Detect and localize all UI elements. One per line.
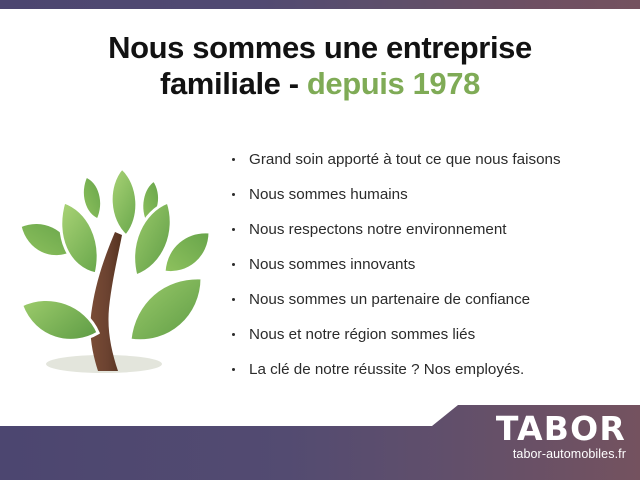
leaf-center-top: [111, 168, 137, 236]
list-item: Nous sommes humains: [228, 185, 630, 205]
bullet-dot-icon: [232, 298, 235, 301]
bullet-dot-icon: [232, 228, 235, 231]
list-item: La clé de notre réussite ? Nos employés.: [228, 360, 630, 380]
list-item-label: Nous sommes humains: [249, 186, 408, 203]
brand-url-text: tabor-automobiles.fr: [426, 447, 626, 462]
slide-root: Nous sommes une entreprise familiale - d…: [0, 0, 640, 480]
list-item: Nous respectons notre environnement: [228, 220, 630, 240]
list-item-label: Grand soin apporté à tout ce que nous fa…: [249, 151, 561, 168]
list-item: Nous et notre région sommes liés: [228, 325, 630, 345]
headline-line-2-plain: familiale -: [160, 66, 307, 101]
list-item-label: Nous sommes innovants: [249, 256, 415, 273]
tree-illustration: [12, 140, 222, 390]
bullet-dot-icon: [232, 158, 235, 161]
bullet-dot-icon: [232, 263, 235, 266]
value-list: Grand soin apporté à tout ce que nous fa…: [228, 150, 630, 395]
bullet-dot-icon: [232, 333, 235, 336]
top-accent-bar: [0, 0, 640, 9]
brand-logo: TABOR tabor-automobiles.fr: [426, 412, 626, 462]
list-item: Nous sommes innovants: [228, 255, 630, 275]
bullet-dot-icon: [232, 368, 235, 371]
page-title: Nous sommes une entreprise familiale - d…: [0, 30, 640, 102]
list-item: Grand soin apporté à tout ce que nous fa…: [228, 150, 630, 170]
leaf-small-top-left: [82, 176, 101, 220]
list-item-label: Nous et notre région sommes liés: [249, 326, 475, 343]
list-item-label: Nous respectons notre environnement: [249, 221, 507, 238]
leaf-lower-left: [21, 292, 99, 347]
leaf-far-right: [164, 232, 210, 273]
bullet-dot-icon: [232, 193, 235, 196]
list-item-label: La clé de notre réussite ? Nos employés.: [249, 361, 524, 378]
list-item: Nous sommes un partenaire de confiance: [228, 290, 630, 310]
brand-name-text: TABOR: [426, 412, 626, 446]
headline-line-2-accent: depuis 1978: [307, 66, 480, 101]
leaf-lower-right: [130, 278, 202, 341]
headline-line-1: Nous sommes une entreprise: [108, 30, 532, 65]
list-item-label: Nous sommes un partenaire de confiance: [249, 291, 530, 308]
